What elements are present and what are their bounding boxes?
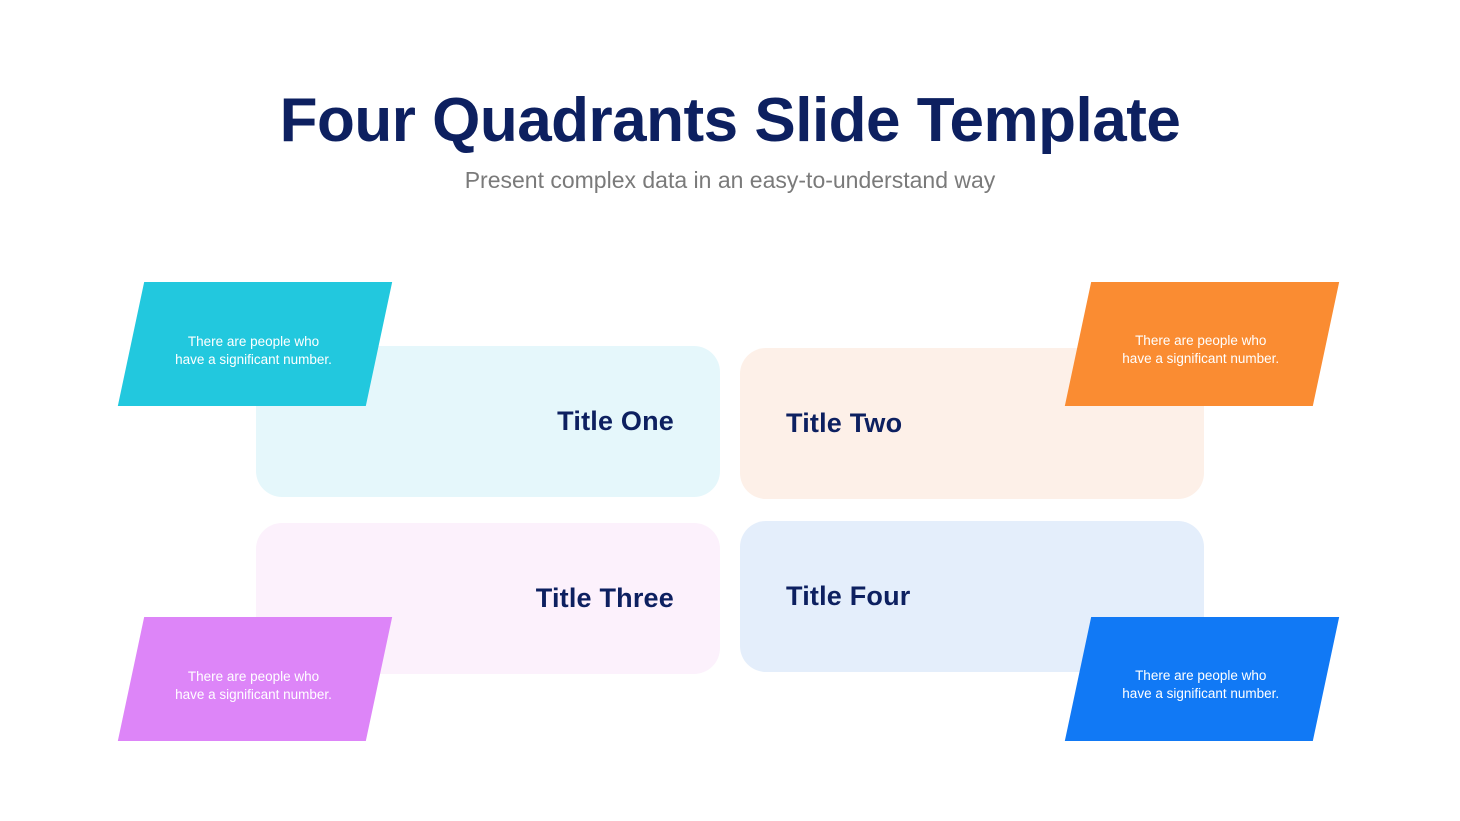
quadrant-title-four: Title Four: [786, 582, 911, 612]
callout-text-bottom-right: There are people who have a significant …: [1111, 667, 1291, 703]
callout-parallelogram-top-left[interactable]: There are people who have a significant …: [118, 282, 392, 406]
quadrant-title-one: Title One: [557, 407, 674, 437]
callout-text-top-left: There are people who have a significant …: [164, 333, 344, 369]
callout-text-bottom-left: There are people who have a significant …: [164, 668, 344, 704]
quadrant-title-three: Title Three: [536, 584, 674, 614]
callout-parallelogram-top-right[interactable]: There are people who have a significant …: [1065, 282, 1339, 406]
quadrant-title-two: Title Two: [786, 409, 902, 439]
callout-parallelogram-bottom-left[interactable]: There are people who have a significant …: [118, 617, 392, 741]
slide-header: Four Quadrants Slide Template Present co…: [0, 88, 1460, 195]
slide-canvas: Four Quadrants Slide Template Present co…: [0, 0, 1460, 821]
page-title: Four Quadrants Slide Template: [0, 88, 1460, 155]
page-subtitle: Present complex data in an easy-to-under…: [0, 167, 1460, 195]
callout-text-top-right: There are people who have a significant …: [1111, 332, 1291, 368]
quadrant-grid: Title One Title Two Title Three Title Fo…: [256, 346, 1204, 672]
callout-parallelogram-bottom-right[interactable]: There are people who have a significant …: [1065, 617, 1339, 741]
